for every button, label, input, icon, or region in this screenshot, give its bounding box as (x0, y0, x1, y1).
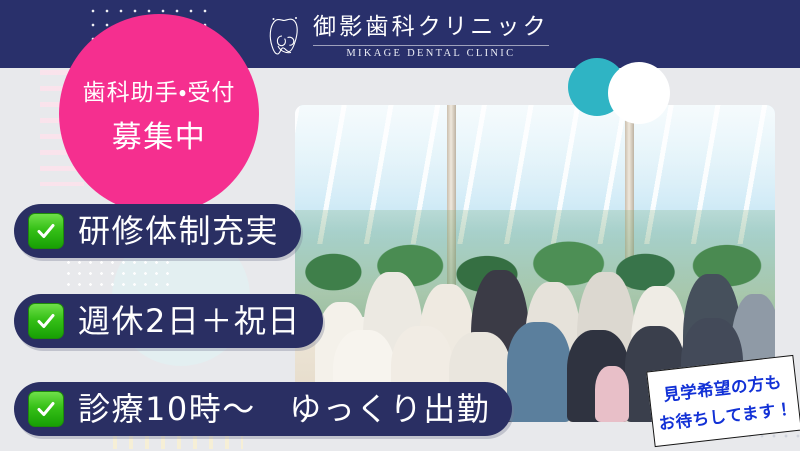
green-check-icon (28, 213, 64, 249)
staff-figure (595, 366, 629, 422)
clinic-name-jp: 御影歯科クリニック (313, 13, 549, 42)
badge-role-text: 歯科助手・受付 (83, 73, 236, 107)
feature-label: 診療10時〜 ゆっくり出勤 (78, 393, 490, 425)
tooth-logo-icon (265, 13, 307, 61)
clinic-logo[interactable]: 御影歯科クリニック MIKAGE DENTAL CLINIC (265, 8, 515, 64)
staff-figure (507, 322, 571, 422)
recruitment-banner-page: 歯科医院スタッフ集合写真 御影歯科クリニック MIKAGE DENTAL CLI… (0, 0, 800, 451)
feature-label: 週休2日＋祝日 (78, 305, 301, 337)
logo-divider (313, 45, 549, 46)
feature-banner-start-time: 診療10時〜 ゆっくり出勤 (14, 382, 512, 436)
feature-label: 研修体制充実 (78, 215, 279, 247)
feature-banner-holidays: 週休2日＋祝日 (14, 294, 323, 348)
clinic-name-en: MIKAGE DENTAL CLINIC (346, 48, 515, 59)
green-check-icon (28, 391, 64, 427)
green-check-icon (28, 303, 64, 339)
badge-status-text: 募集中 (112, 112, 207, 156)
feature-banner-training: 研修体制充実 (14, 204, 301, 258)
decor-white-circle (608, 62, 670, 124)
recruitment-badge: 歯科助手・受付 募集中 (59, 14, 259, 214)
